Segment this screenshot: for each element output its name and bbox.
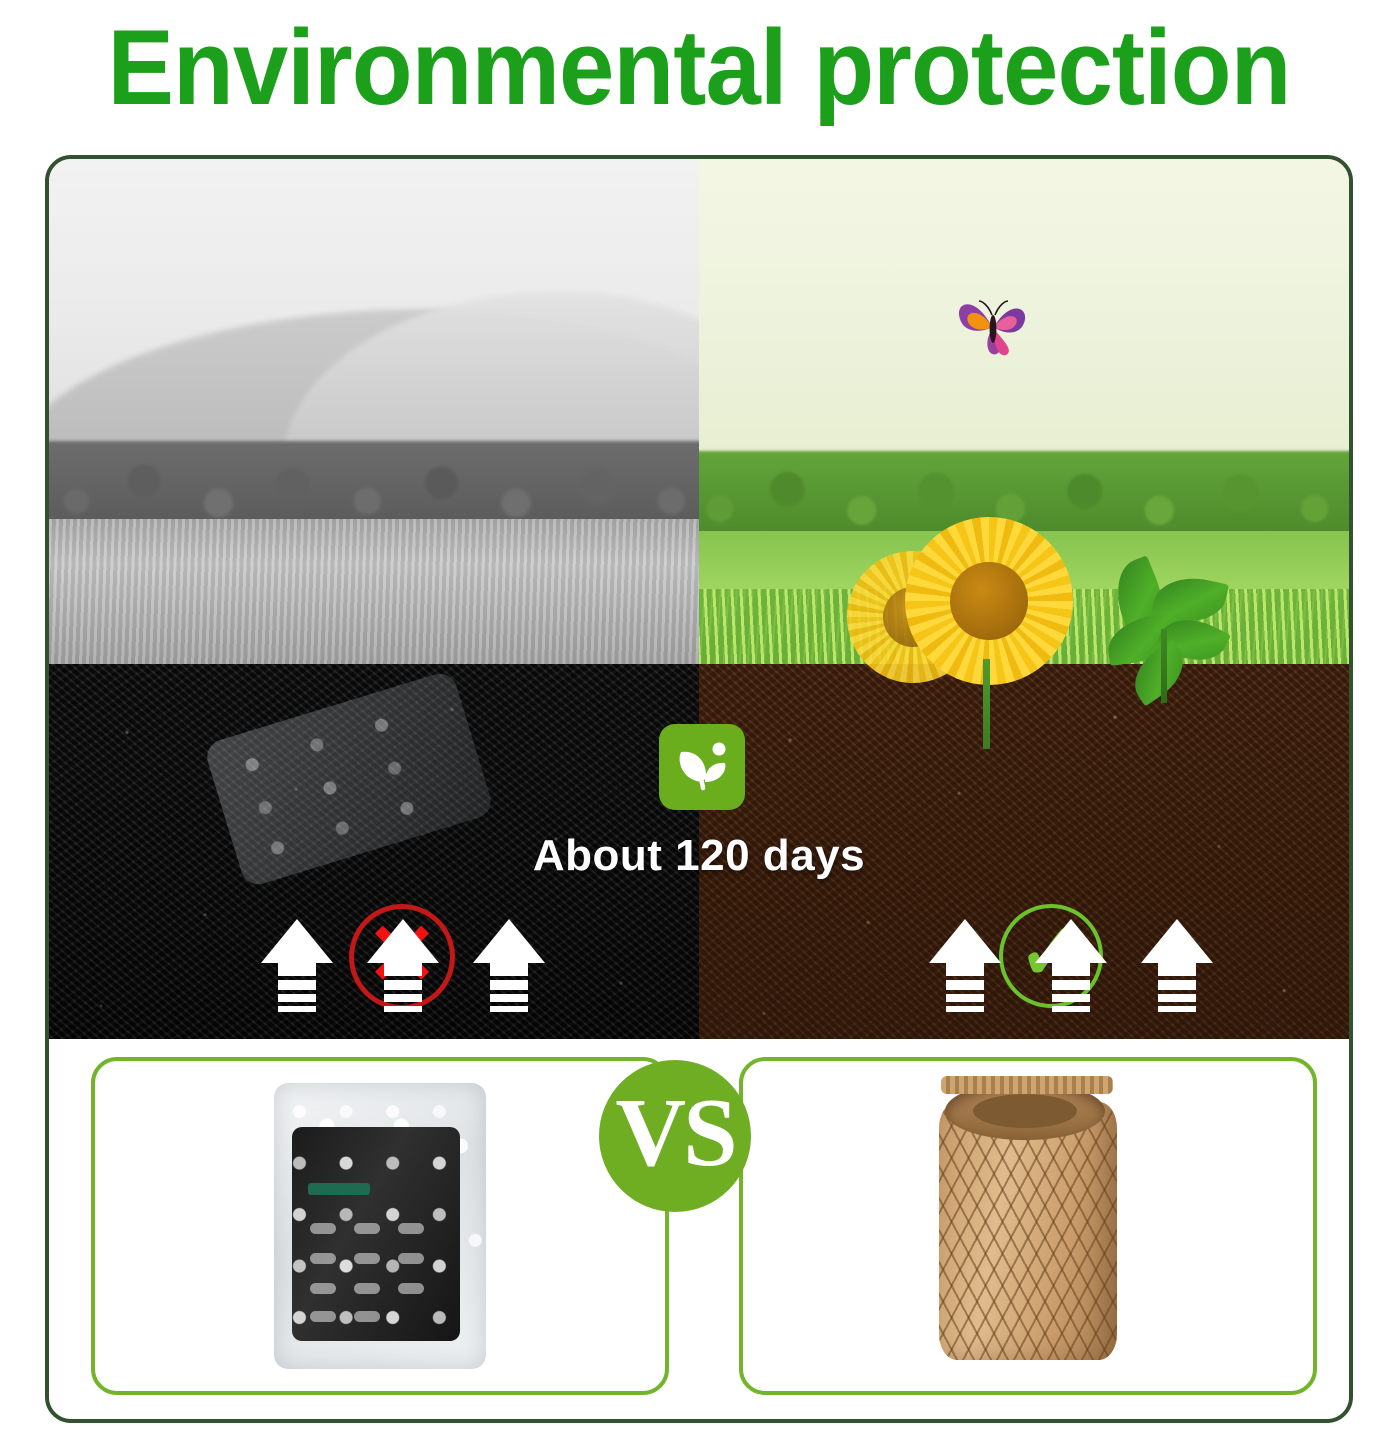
page-title: Environmental protection — [108, 14, 1291, 121]
duration-label: About 120 days — [49, 831, 1349, 881]
up-arrow-icon — [1035, 919, 1107, 1015]
product-box-kraft[interactable] — [739, 1057, 1317, 1395]
green-plant — [1099, 557, 1239, 707]
up-arrow-icon — [473, 919, 545, 1015]
decomposition-arrows-right — [929, 919, 1213, 1015]
infographic-frame: ✕ ✓ About 120 days — [45, 155, 1353, 1423]
product-box-plastic[interactable] — [91, 1057, 669, 1395]
honeycomb-kraft-paper-roll — [939, 1076, 1117, 1376]
up-arrow-icon — [1141, 919, 1213, 1015]
up-arrow-icon — [261, 919, 333, 1015]
up-arrow-icon — [367, 919, 439, 1015]
comparison-photo: ✕ ✓ About 120 days — [49, 159, 1349, 1039]
leaf-sprout-badge — [659, 724, 745, 810]
title-bar: Environmental protection — [0, 0, 1398, 140]
sunflower-stem — [983, 659, 990, 749]
versus-badge: VS — [599, 1060, 751, 1212]
butterfly-icon — [946, 289, 1042, 359]
versus-label: VS — [615, 1084, 734, 1182]
gray-field — [49, 519, 699, 669]
decomposition-arrows-left — [261, 919, 545, 1015]
up-arrow-icon — [929, 919, 1001, 1015]
plastic-bubble-wrap-pack — [274, 1083, 486, 1369]
leaf-sprout-icon — [671, 736, 733, 798]
